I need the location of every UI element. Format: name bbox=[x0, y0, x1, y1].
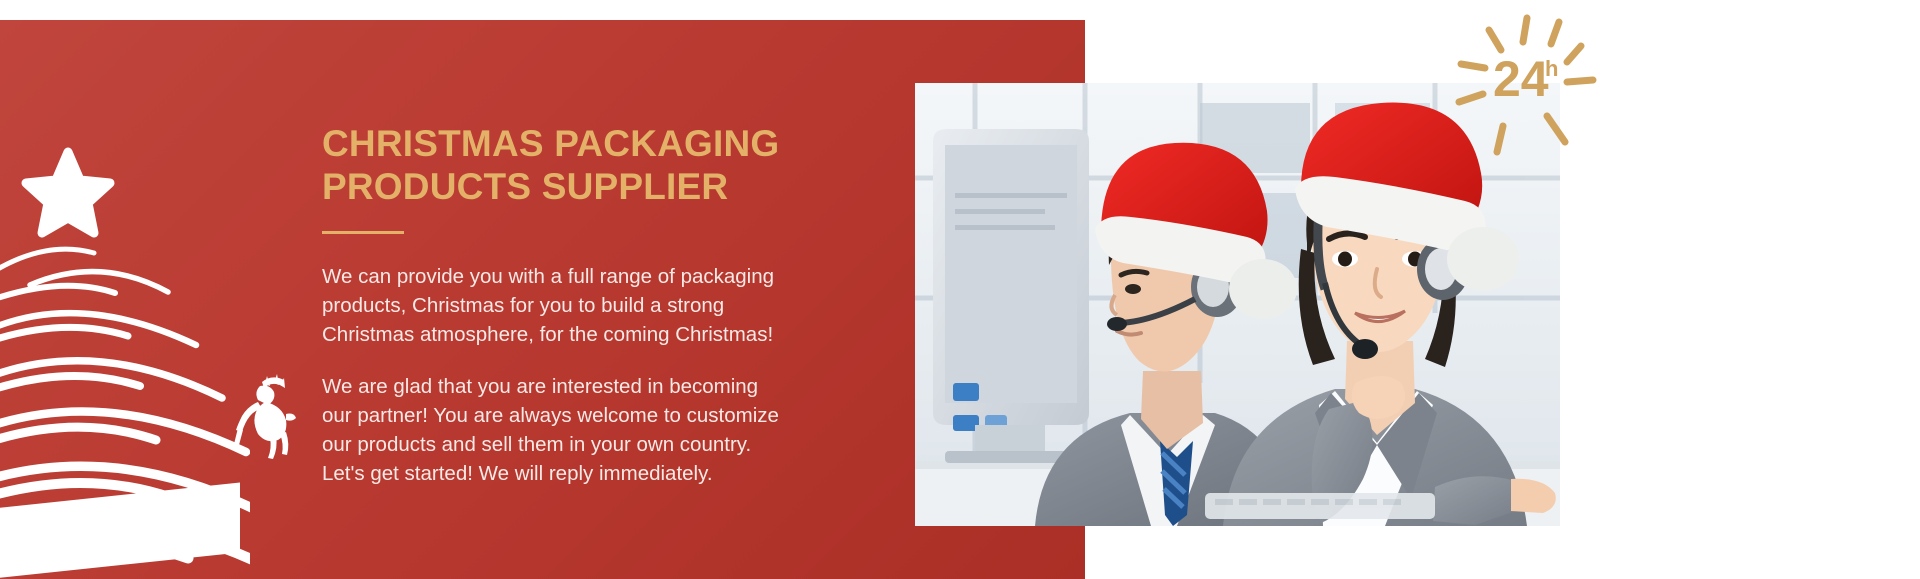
christmas-banner: CHRISTMAS PACKAGING PRODUCTS SUPPLIER We… bbox=[0, 0, 1920, 579]
panel-bottom-notch bbox=[0, 482, 240, 579]
page-title: CHRISTMAS PACKAGING PRODUCTS SUPPLIER bbox=[322, 122, 882, 209]
banner-text-block: CHRISTMAS PACKAGING PRODUCTS SUPPLIER We… bbox=[322, 122, 882, 488]
keyboard bbox=[1205, 493, 1435, 519]
desktop-monitor bbox=[933, 129, 1089, 463]
call-center-photo bbox=[915, 83, 1560, 526]
badge-unit: h bbox=[1545, 56, 1558, 81]
description-paragraph-1: We can provide you with a full range of … bbox=[322, 262, 882, 349]
description-paragraph-2: We are glad that you are interested in b… bbox=[322, 372, 882, 488]
gold-divider bbox=[322, 231, 404, 234]
